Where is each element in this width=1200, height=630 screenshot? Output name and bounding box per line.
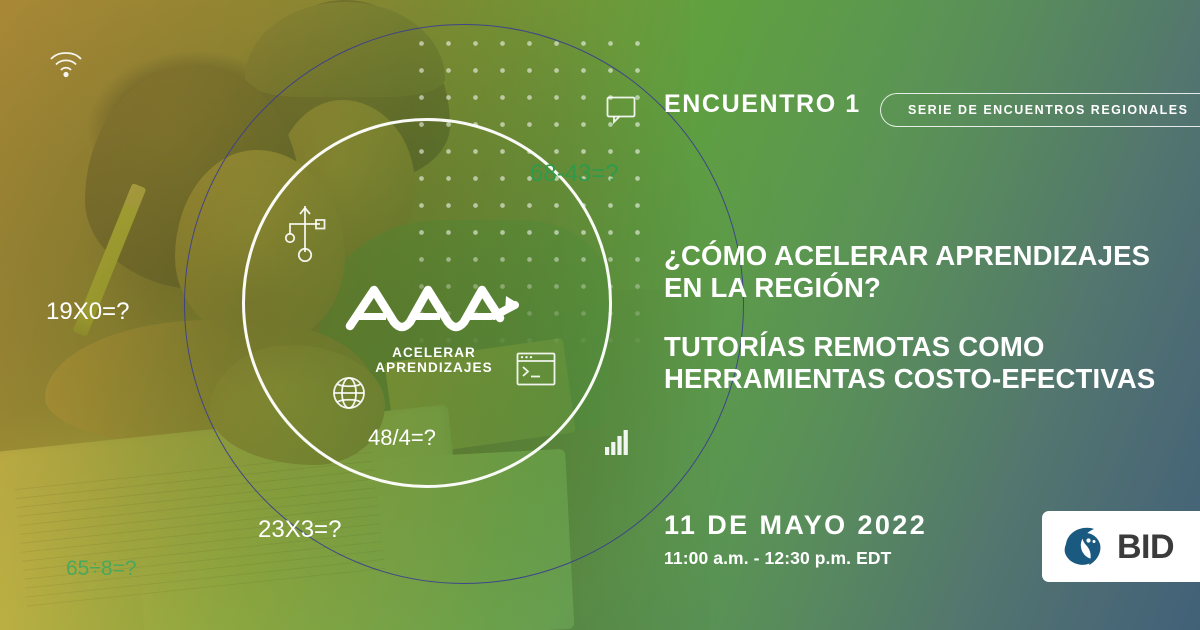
encuentro-eyebrow: ENCUENTRO 1 <box>664 90 861 119</box>
serie-pill-label: SERIE DE ENCUENTROS REGIONALES <box>908 103 1188 117</box>
event-banner: 19X0=? 68-43=? 48/4=? 23X3=? 65÷8=? ACEL… <box>0 0 1200 630</box>
chat-bubble-icon <box>606 96 636 124</box>
header-row: ENCUENTRO 1 <box>664 90 861 119</box>
equation-19x0: 19X0=? <box>46 298 129 326</box>
event-date: 11 DE MAYO 2022 <box>664 510 927 541</box>
equation-65-8: 65÷8=? <box>66 557 137 581</box>
zigzag-wave-arrow-mark <box>344 278 524 336</box>
network-sitemap-icon <box>282 200 328 262</box>
serie-pill: SERIE DE ENCUENTROS REGIONALES <box>880 93 1200 127</box>
title-block: ¿CÓMO ACELERAR APRENDIZAJES EN LA REGIÓN… <box>664 240 1176 396</box>
equation-68-43: 68-43=? <box>530 160 619 188</box>
event-date-block: 11 DE MAYO 2022 11:00 a.m. - 12:30 p.m. … <box>664 510 927 569</box>
equation-48-4: 48/4=? <box>368 425 436 451</box>
event-time: 11:00 a.m. - 12:30 p.m. EDT <box>664 548 927 569</box>
bid-fish-logo-icon <box>1061 524 1107 570</box>
title-line-2: TUTORÍAS REMOTAS COMO HERRAMIENTAS COSTO… <box>664 331 1176 396</box>
bar-chart-icon <box>604 428 630 456</box>
globe-icon <box>332 376 366 410</box>
acelerar-aprendizajes-logo: ACELERAR APRENDIZAJES <box>344 278 524 375</box>
acelerar-aprendizajes-label: ACELERAR APRENDIZAJES <box>344 345 524 375</box>
bid-logo: BID <box>1042 511 1200 582</box>
wifi-icon <box>48 48 84 78</box>
equation-23x3: 23X3=? <box>258 516 341 544</box>
bid-wordmark: BID <box>1117 530 1174 564</box>
title-line-1: ¿CÓMO ACELERAR APRENDIZAJES EN LA REGIÓN… <box>664 240 1176 305</box>
